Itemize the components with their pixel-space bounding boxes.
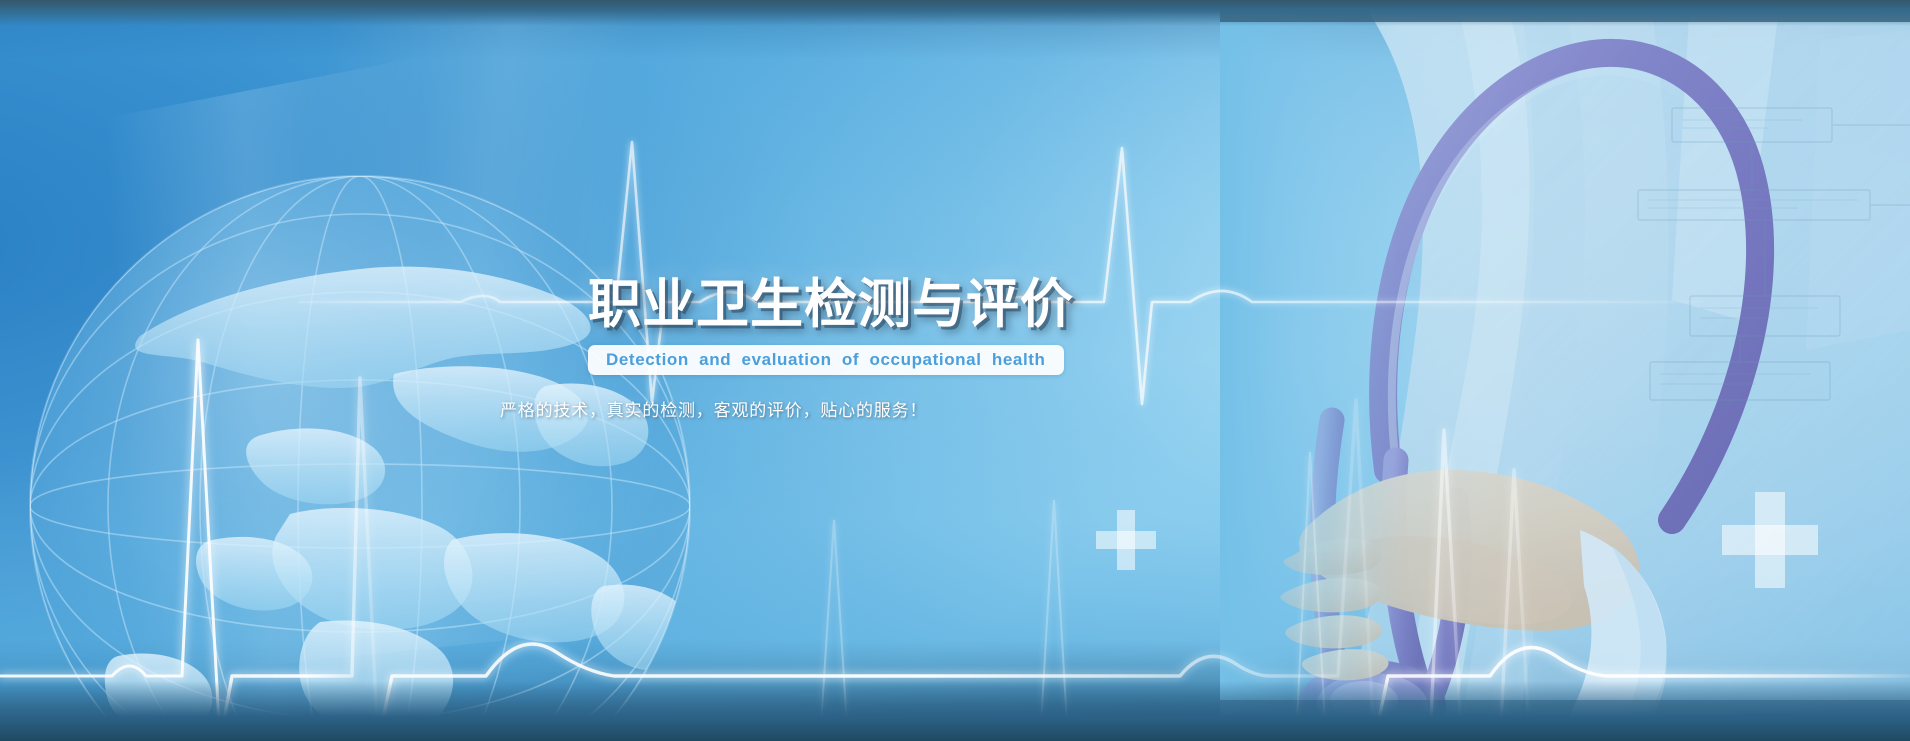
- medical-cross-icon: [1722, 492, 1818, 588]
- subtitle-pill: Detection and evaluation of occupational…: [588, 345, 1064, 375]
- page-title: 职业卫生检测与评价: [588, 262, 1074, 338]
- occupational-health-banner: 职业卫生检测与评价 Detection and evaluation of oc…: [0, 0, 1910, 741]
- medical-cross-icon: [1096, 510, 1156, 570]
- tagline-text: 严格的技术，真实的检测，客观的评价，贴心的服务！: [500, 396, 927, 421]
- subtitle-text: Detection and evaluation of occupational…: [606, 350, 1046, 370]
- bottom-edge-band: [0, 681, 1910, 741]
- top-edge-band: [0, 0, 1910, 26]
